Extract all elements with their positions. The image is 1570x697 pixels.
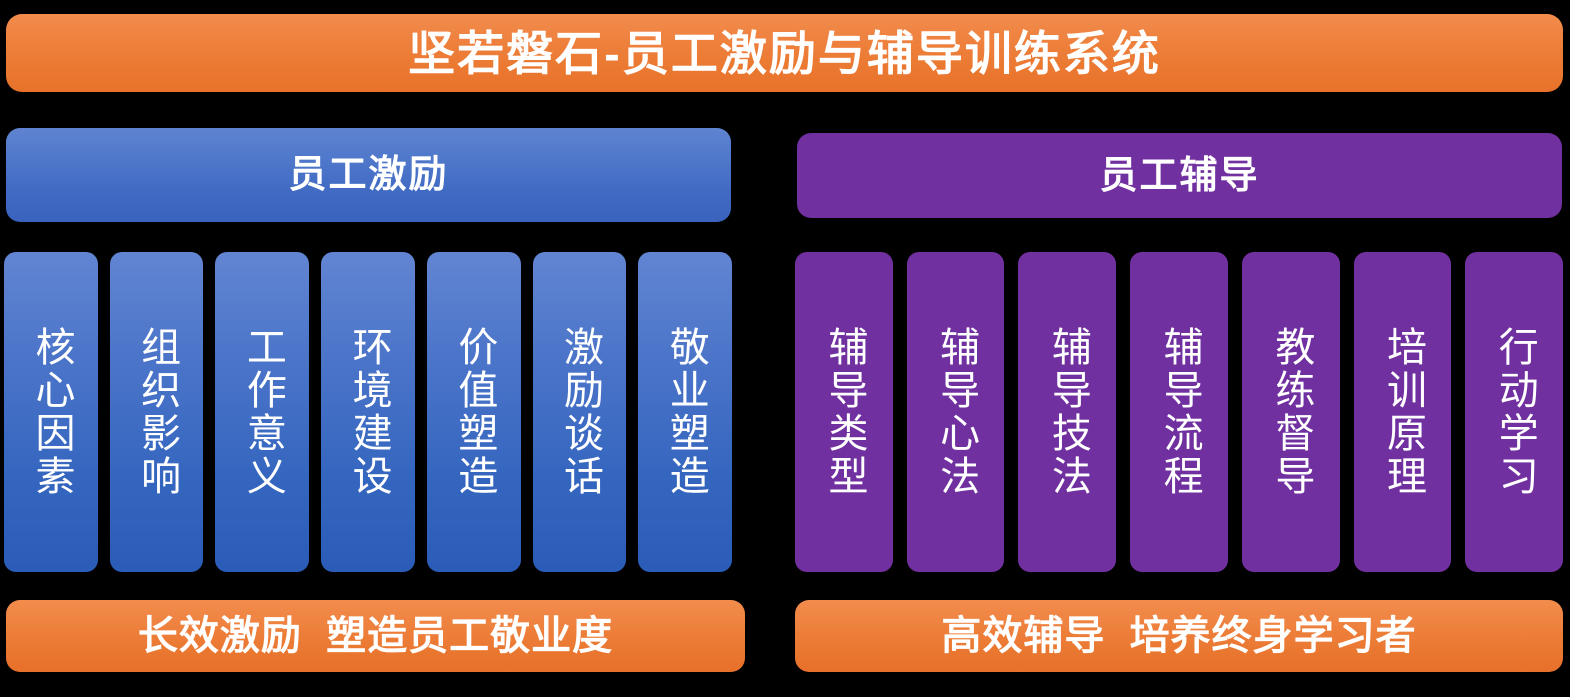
column-card[interactable]: 核心因素 (4, 252, 98, 572)
column-card[interactable]: 激励谈话 (533, 252, 627, 572)
column-label: 核心因素 (29, 326, 72, 498)
column-card[interactable]: 敬业塑造 (638, 252, 732, 572)
column-label: 辅导流程 (1157, 326, 1200, 498)
column-label: 环境建设 (346, 326, 389, 498)
footer-banner-employee-coaching: 高效辅导 培养终身学习者 (795, 600, 1563, 672)
section-header-label: 员工辅导 (1099, 157, 1259, 195)
column-card[interactable]: 培训原理 (1354, 252, 1452, 572)
title-banner: 坚若磐石-员工激励与辅导训练系统 (6, 14, 1563, 92)
section-header-employee-coaching[interactable]: 员工辅导 (797, 133, 1562, 218)
column-card[interactable]: 行动学习 (1465, 252, 1563, 572)
column-card[interactable]: 工作意义 (215, 252, 309, 572)
column-card[interactable]: 环境建设 (321, 252, 415, 572)
column-label: 辅导技法 (1046, 326, 1089, 498)
footer-label: 高效辅导 培养终身学习者 (941, 616, 1416, 656)
column-card[interactable]: 组织影响 (110, 252, 204, 572)
column-label: 价值塑造 (452, 326, 495, 498)
panel-employee-coaching: 员工辅导 (795, 120, 1563, 218)
column-card[interactable]: 价值塑造 (427, 252, 521, 572)
column-card[interactable]: 辅导流程 (1130, 252, 1228, 572)
column-label: 行动学习 (1493, 326, 1536, 498)
column-group-employee-coaching: 辅导类型 辅导心法 辅导技法 辅导流程 教练督导 培训原理 行动学习 (795, 252, 1563, 572)
footer-label: 长效激励 塑造员工敬业度 (138, 616, 613, 656)
column-card[interactable]: 辅导类型 (795, 252, 893, 572)
column-card[interactable]: 辅导心法 (907, 252, 1005, 572)
column-label: 培训原理 (1381, 326, 1424, 498)
column-card[interactable]: 教练督导 (1242, 252, 1340, 572)
panel-employee-motivation: 员工激励 (4, 120, 732, 222)
section-header-label: 员工激励 (288, 156, 448, 194)
column-label: 辅导心法 (934, 326, 977, 498)
page-title: 坚若磐石-员工激励与辅导训练系统 (408, 30, 1161, 77)
column-label: 教练督导 (1269, 326, 1312, 498)
column-label: 敬业塑造 (664, 326, 707, 498)
column-label: 工作意义 (241, 326, 284, 498)
column-group-employee-motivation: 核心因素 组织影响 工作意义 环境建设 价值塑造 激励谈话 敬业塑造 (4, 252, 732, 572)
column-label: 组织影响 (135, 326, 178, 498)
column-card[interactable]: 辅导技法 (1018, 252, 1116, 572)
section-header-employee-motivation[interactable]: 员工激励 (6, 128, 731, 222)
footer-banner-employee-motivation: 长效激励 塑造员工敬业度 (6, 600, 745, 672)
column-label: 激励谈话 (558, 326, 601, 498)
column-label: 辅导类型 (822, 326, 865, 498)
diagram-canvas: 坚若磐石-员工激励与辅导训练系统 员工激励 员工辅导 核心因素 组织影响 工作意… (0, 0, 1570, 697)
